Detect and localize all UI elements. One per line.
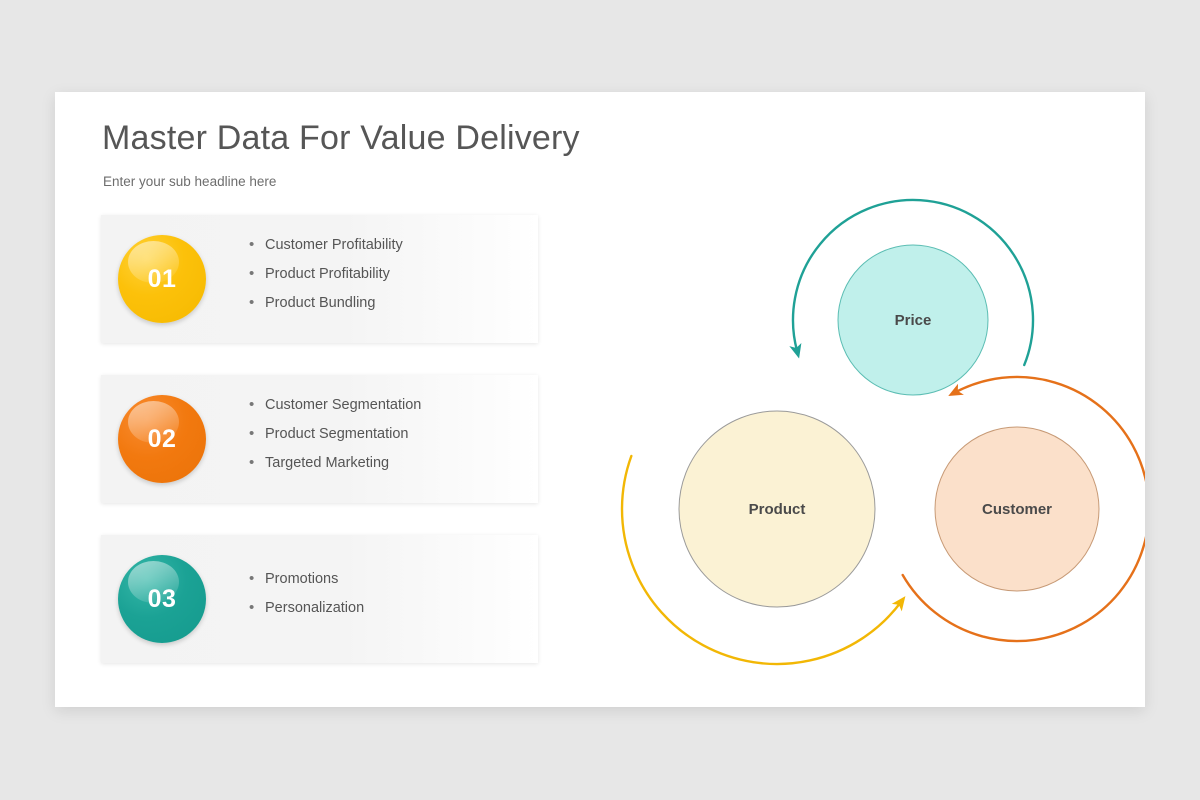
gear-diagram: Product Customer Price: [565, 192, 1145, 692]
slide-canvas: Master Data For Value Delivery Enter you…: [55, 92, 1145, 707]
gear-product[interactable]: Product: [679, 411, 875, 607]
step-badge-03: 03: [118, 555, 206, 643]
gear-diagram-svg: Product Customer Price: [565, 192, 1145, 692]
list-item-label: Product Bundling: [265, 295, 375, 311]
bullet-list-01: • Customer Profitability • Product Profi…: [249, 215, 403, 343]
bullet-list-02: • Customer Segmentation • Product Segmen…: [249, 375, 421, 503]
list-item-label: Product Segmentation: [265, 426, 408, 442]
step-number: 01: [148, 265, 177, 294]
bullet-dot-icon: •: [249, 425, 265, 442]
list-item: • Product Segmentation: [249, 425, 421, 454]
bullet-dot-icon: •: [249, 265, 265, 282]
list-item-label: Customer Segmentation: [265, 397, 421, 413]
list-item: • Product Bundling: [249, 294, 403, 323]
list-item-label: Product Profitability: [265, 266, 390, 282]
gear-product-label: Product: [749, 501, 806, 518]
page-title: Master Data For Value Delivery: [102, 119, 580, 158]
bullet-dot-icon: •: [249, 454, 265, 471]
bullet-dot-icon: •: [249, 570, 265, 587]
gear-price-label: Price: [895, 312, 932, 329]
step-badge-02: 02: [118, 395, 206, 483]
step-badge-01: 01: [118, 235, 206, 323]
list-item: • Product Profitability: [249, 265, 403, 294]
list-item: • Customer Segmentation: [249, 396, 421, 425]
info-card-02[interactable]: 02 • Customer Segmentation • Product Seg…: [101, 375, 538, 503]
bullet-dot-icon: •: [249, 294, 265, 311]
list-item-label: Targeted Marketing: [265, 455, 389, 471]
bullet-dot-icon: •: [249, 599, 265, 616]
step-number: 03: [148, 585, 177, 614]
bullet-dot-icon: •: [249, 396, 265, 413]
page-subtitle: Enter your sub headline here: [103, 174, 276, 189]
bullet-dot-icon: •: [249, 236, 265, 253]
list-item: • Targeted Marketing: [249, 454, 421, 483]
bullet-list-03: • Promotions • Personalization: [249, 535, 364, 663]
list-item-label: Promotions: [265, 571, 338, 587]
list-item: • Personalization: [249, 599, 364, 628]
list-item: • Promotions: [249, 570, 364, 599]
step-number: 02: [148, 425, 177, 454]
list-item: • Customer Profitability: [249, 236, 403, 265]
gear-price[interactable]: Price: [838, 245, 988, 395]
list-item-label: Customer Profitability: [265, 237, 403, 253]
gear-customer-label: Customer: [982, 501, 1052, 518]
info-card-01[interactable]: 01 • Customer Profitability • Product Pr…: [101, 215, 538, 343]
screenshot-root: Master Data For Value Delivery Enter you…: [0, 0, 1200, 800]
list-item-label: Personalization: [265, 600, 364, 616]
gear-customer[interactable]: Customer: [935, 427, 1099, 591]
info-card-03[interactable]: 03 • Promotions • Personalization: [101, 535, 538, 663]
